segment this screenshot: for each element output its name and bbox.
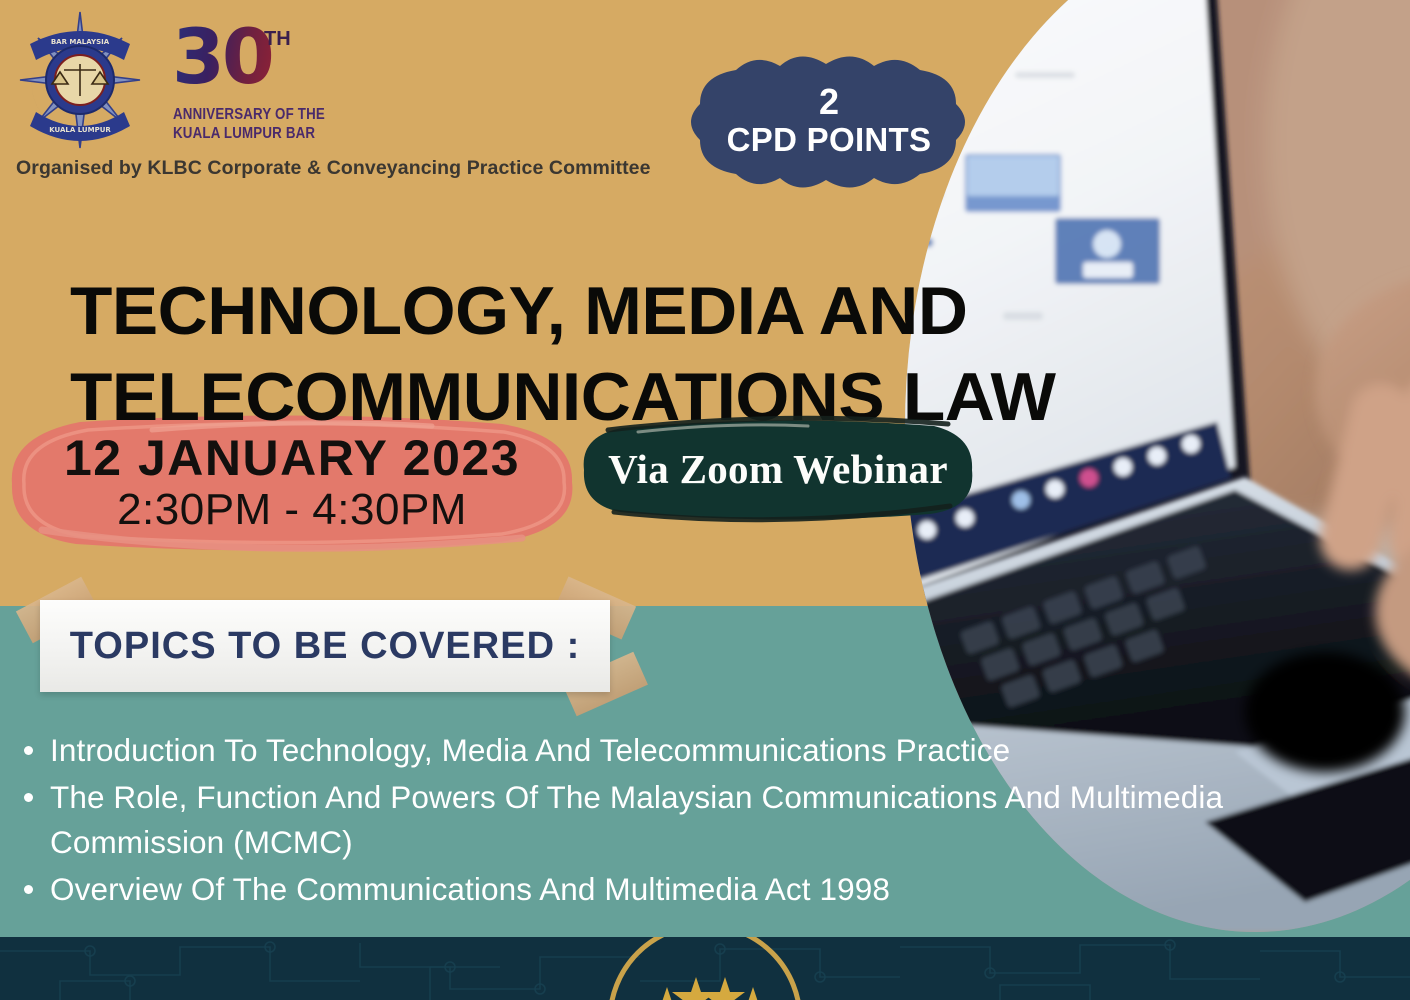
topics-banner: TOPICS TO BE COVERED : — [18, 592, 628, 702]
footer-strip — [0, 937, 1410, 1000]
list-item-text: Overview Of The Communications And Multi… — [50, 871, 890, 907]
event-time: 2:30PM - 4:30PM — [117, 485, 467, 535]
anniversary-line1: ANNIVERSARY OF THE — [173, 106, 325, 124]
anniversary-ordinal: TH — [264, 28, 291, 51]
cpd-points-number: 2 — [819, 84, 839, 120]
crest-svg: BAR MALAYSIA KUALA LUMPUR — [16, 4, 144, 156]
list-item: Introduction To Technology, Media And Te… — [50, 728, 1240, 773]
gold-star-arc-emblem — [590, 937, 820, 1000]
cpd-points-badge: 2 CPD POINTS — [684, 48, 974, 196]
bullet-dot-icon — [24, 793, 33, 802]
list-item-text: The Role, Function And Powers Of The Mal… — [50, 779, 1223, 860]
crest-bottom-text: KUALA LUMPUR — [49, 126, 111, 134]
title-line-1: TECHNOLOGY, MEDIA AND — [70, 268, 988, 354]
crest-top-text: BAR MALAYSIA — [51, 38, 110, 46]
platform-label: Via Zoom Webinar — [578, 414, 978, 524]
anniversary-logo: 30 TH ANNIVERSARY OF THE KUALA LUMPUR BA… — [172, 22, 318, 148]
bullet-dot-icon — [24, 746, 33, 755]
kl-bar-crest-logo: BAR MALAYSIA KUALA LUMPUR — [16, 4, 144, 156]
list-item: Overview Of The Communications And Multi… — [50, 867, 1240, 912]
bullet-dot-icon — [24, 885, 33, 894]
list-item-text: Introduction To Technology, Media And Te… — [50, 732, 1010, 768]
topics-list: Introduction To Technology, Media And Te… — [16, 728, 1240, 914]
list-item: The Role, Function And Powers Of The Mal… — [50, 775, 1240, 865]
anniversary-line2: KUALA LUMPUR BAR — [173, 125, 315, 143]
platform-badge: Via Zoom Webinar — [578, 414, 978, 524]
cpd-points-label: CPD POINTS — [727, 120, 932, 160]
organised-by-text: Organised by KLBC Corporate & Conveyanci… — [16, 157, 651, 180]
anniversary-number: 30 — [172, 18, 272, 96]
event-poster: BAR MALAYSIA KUALA LUMPUR 30 TH ANNIVERS… — [0, 0, 1410, 1000]
paper-sheet: TOPICS TO BE COVERED : — [40, 600, 610, 692]
topics-heading: TOPICS TO BE COVERED : — [40, 600, 610, 692]
